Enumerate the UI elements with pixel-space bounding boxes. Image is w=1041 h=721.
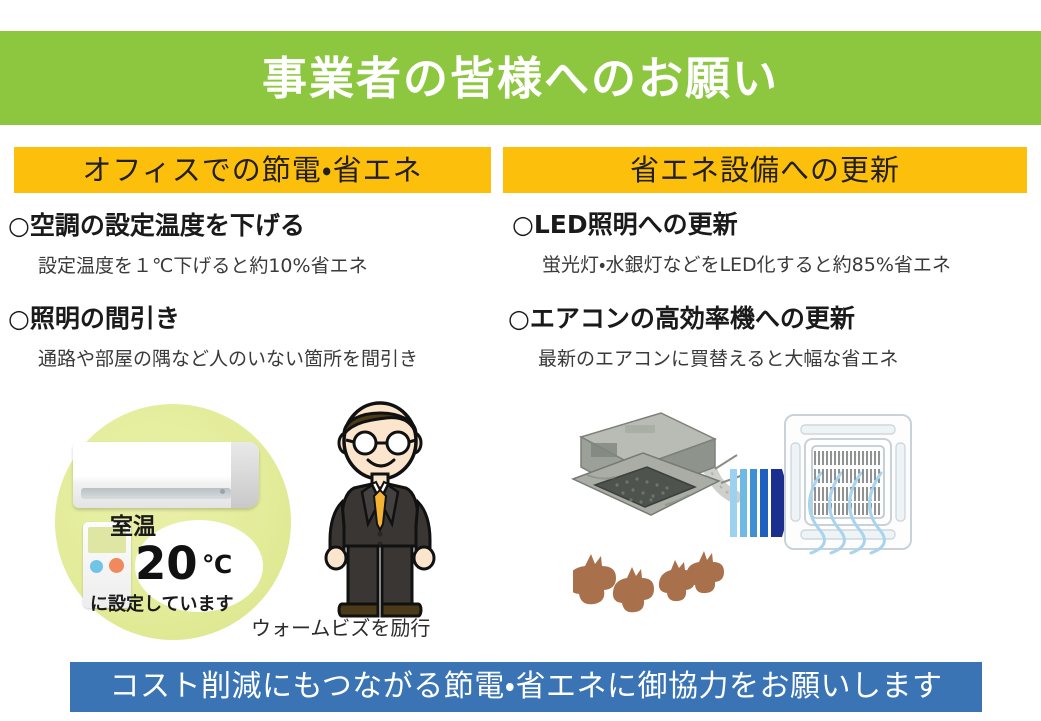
businessman-illustration (310, 398, 460, 627)
hand-icon (326, 547, 346, 569)
footer-banner: コスト削減にもつながる節電・省エネに御協力をお願いします (70, 662, 982, 712)
air-conditioner-vent (81, 488, 231, 499)
bullet-subtext: 最新のエアコンに買替えると大幅な省エネ (538, 349, 898, 370)
bullet-title: ○エアコンの高効率機への更新 (508, 305, 898, 333)
air-conditioner-illustration: 室温 20 ℃ に設定しています (55, 404, 305, 644)
bullet-block-aircon-update: ○エアコンの高効率機への更新 最新のエアコンに買替えると大幅な省エネ (508, 305, 898, 369)
remote-heat-button-icon (109, 558, 124, 573)
section-header-right-label: 省エネ設備への更新 (630, 156, 900, 185)
temperature-unit: ℃ (202, 552, 232, 577)
footer-message: コスト削減にもつながる節電・省エネに御協力をお願いします (110, 672, 943, 702)
room-temperature-label: 室温 (110, 516, 156, 539)
warm-biz-caption: ウォームビズを励行 (251, 618, 430, 638)
bullet-title: ○LED照明への更新 (512, 211, 951, 239)
bullet-title: ○照明の間引き (8, 305, 418, 333)
air-conditioner-side-cap (231, 442, 259, 508)
shoe-icon (339, 604, 378, 616)
temperature-value: 20 (135, 541, 198, 586)
bullet-block-lighting-thinning: ○照明の間引き 通路や部屋の隅など人のいない箇所を間引き (8, 305, 418, 369)
page-title: 事業者の皆様へのお願い (262, 56, 779, 101)
bullet-block-led-update: ○LED照明への更新 蛍光灯・水銀灯などをLED化すると約85%省エネ (512, 211, 951, 275)
dirty-air-smoke-icon (573, 540, 733, 634)
section-header-office-saving: オフィスでの節電・省エネ (14, 147, 491, 193)
bullet-subtext: 蛍光灯・水銀灯などをLED化すると約85%省エネ (542, 255, 951, 276)
title-banner: 事業者の皆様へのお願い (0, 31, 1041, 125)
bullet-subtext: 設定温度を１℃下げると約10%省エネ (38, 256, 368, 277)
bullet-title: ○空調の設定温度を下げる (8, 212, 368, 240)
wall-air-conditioner-icon (73, 442, 259, 508)
section-header-left-label: オフィスでの節電・省エネ (82, 156, 422, 185)
temperature-setting-note: に設定しています (90, 596, 233, 614)
glasses-icon (354, 432, 376, 454)
bullet-subtext: 通路や部屋の隅など人のいない箇所を間引き (38, 349, 418, 370)
section-header-equipment-update: 省エネ設備への更新 (503, 147, 1027, 193)
new-ceiling-aircon-icon (777, 409, 937, 598)
aircon-replacement-illustration (565, 405, 995, 640)
remote-cool-button-icon (90, 560, 103, 573)
businessman-svg (310, 398, 460, 623)
air-conditioner-indicator-icon (220, 489, 225, 494)
bullet-block-ac-temperature: ○空調の設定温度を下げる 設定温度を１℃下げると約10%省エネ (8, 212, 368, 276)
